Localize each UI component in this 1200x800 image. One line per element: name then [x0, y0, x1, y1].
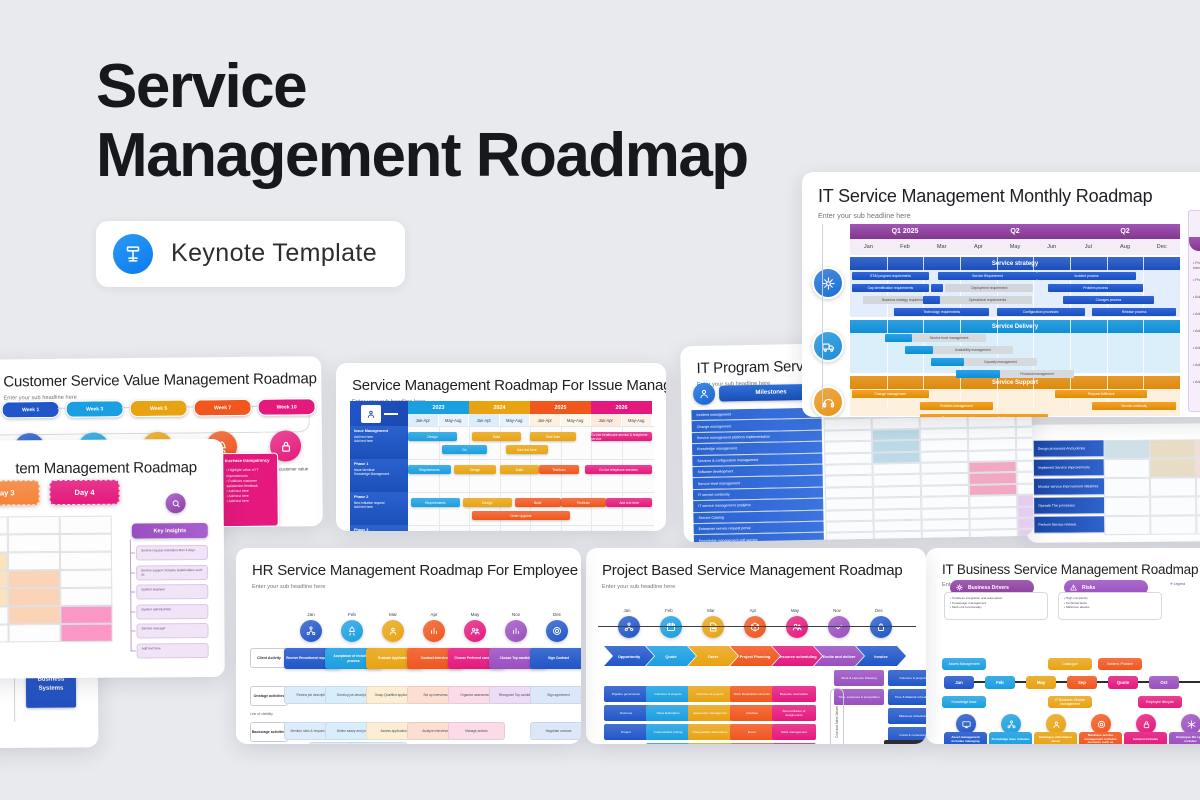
connector-spine [130, 540, 132, 652]
improvement-cell [1196, 439, 1200, 458]
bullet: • Add text here [222, 499, 274, 505]
it-program-cell [1016, 460, 1033, 472]
hr-lane-1: Onstage activities [250, 686, 288, 706]
key-panel-item-2: • Add text [1193, 295, 1200, 300]
month-header-8: Dec [1143, 239, 1181, 255]
b-col-title-0: Asset management includes managing [944, 732, 987, 744]
pb-item-3-2[interactable]: Event [730, 724, 774, 740]
lectern-icon [113, 234, 153, 274]
b-tag-bottom-0[interactable]: Knowledge base [942, 696, 986, 708]
b-col-icon-5 [1181, 714, 1200, 734]
it-program-cell [826, 521, 874, 533]
it-program-cell [921, 485, 969, 497]
gantt-bar-13[interactable]: Build [515, 498, 561, 507]
month-header-1: May-Aug [439, 414, 470, 426]
hr-backstage-4[interactable]: Manage actions [448, 722, 505, 740]
phase-3: Phase 3Service CatalogueSelf Service [350, 525, 408, 531]
monthly-key-panel: Key• Project - system - business transfo… [1188, 210, 1200, 412]
b-col-icon-4 [1136, 714, 1156, 734]
hr-month-icon-2 [382, 620, 404, 642]
pb-month-1: Feb [654, 608, 684, 613]
month-header-2: Jan-Apr [469, 414, 500, 426]
pb-item-2-3[interactable]: Multiple billing systems [688, 743, 732, 744]
it-program-cell [824, 430, 872, 442]
support-bar-3[interactable]: Service continuity [1092, 402, 1176, 410]
phase-sub: Add text here [354, 505, 404, 510]
b-col-icon-0 [956, 714, 976, 734]
phase-1: Phase 1Issue IdenticalKnowledge Manageme… [350, 459, 408, 492]
it-program-cell [970, 529, 1018, 541]
key-insights-label[interactable]: Key insights [132, 523, 208, 539]
month-header-3: May-Aug [500, 414, 531, 426]
month-header-4: Jan-Apr [530, 414, 561, 426]
delivery-bar-1[interactable]: Service level management [912, 334, 985, 342]
it-program-cell [969, 484, 1017, 496]
improvement-cell [1150, 458, 1196, 477]
it-program-cell [921, 473, 969, 485]
panel-title: Business Drivers [968, 585, 1009, 591]
pb-item-0-0[interactable]: Pipeline governance [604, 686, 648, 702]
phase-name: Phase 3 [354, 528, 404, 531]
it-program-cell [873, 486, 921, 498]
support-bar-1[interactable]: Request fulfilment [1055, 390, 1147, 398]
keynote-template-badge[interactable]: Keynote Template [96, 221, 405, 287]
b-month-3[interactable]: Sep [1067, 676, 1097, 689]
support-bar-5[interactable]: Release management [920, 414, 997, 417]
day-pill-2[interactable]: Day 4 [49, 480, 119, 505]
b-tag-top-1[interactable]: Catalogue [1048, 658, 1092, 670]
improvement-cell [1150, 477, 1196, 496]
hr-month-6: Dec [540, 612, 574, 617]
improvement-cell [1196, 477, 1200, 496]
pb-item-0-2[interactable]: Project [604, 724, 648, 740]
pb-month-5: Nov [822, 608, 852, 613]
slide-card-system-management[interactable]: tem Management Roadmap Day 3Day 4Key ins… [0, 439, 225, 679]
strategy-bar-3[interactable]: Technology requirements [894, 308, 989, 316]
key-panel-item-6: • Add text [1193, 363, 1200, 368]
gantt-bar-5[interactable]: Add text here [506, 445, 549, 454]
month-header-3: Apr [960, 239, 998, 255]
table-cell [60, 606, 112, 624]
it-program-cell [825, 475, 873, 487]
slide-subtitle: Enter your sub headline here [818, 213, 1200, 220]
hr-month-3: Apr [417, 612, 451, 617]
slide-title: tem Management Roadmap [15, 459, 207, 477]
phase-row-bg [408, 459, 654, 492]
it-program-cell [969, 472, 1017, 484]
it-program-cell [873, 497, 921, 509]
person-icon [693, 383, 715, 405]
year-header-2: 2025 [530, 401, 592, 414]
day-table [0, 516, 113, 646]
b-col-icon-2 [1046, 714, 1066, 734]
it-program-cell [968, 427, 1016, 439]
strategy-bar-6[interactable]: Deployment requirement [945, 284, 1033, 292]
month-header-2: Mar [923, 239, 961, 255]
issue-gantt: 2023202420252026Jan-AprMay-AugJan-AprMay… [350, 401, 654, 521]
pb-item-4-1[interactable]: Reconciliation of assignments [772, 705, 816, 721]
it-program-cell [921, 496, 969, 508]
cost-sales-label: Cost and Sales Values [830, 688, 844, 744]
it-program-cell [920, 428, 968, 440]
slide-title: Project Based Service Management Roadmap [602, 562, 910, 579]
pb-month-6: Dec [864, 608, 894, 613]
strategy-bar-11[interactable]: Changes process [1063, 296, 1155, 304]
table-cell [60, 534, 112, 552]
slide-title: Service Management Roadmap For Issue Man… [352, 377, 650, 394]
it-program-cell [920, 450, 968, 462]
pb-item-1-1[interactable]: Value Estimation [646, 705, 690, 721]
gantt-bar-1[interactable]: Build [472, 432, 521, 441]
it-program-cell [968, 415, 1016, 427]
gantt-bar-4[interactable]: Go [442, 445, 488, 454]
month-header-0: Jan-Apr [408, 414, 439, 426]
b-tag-bottom-1[interactable]: IT Business Service management [1048, 696, 1092, 708]
it-program-cell [825, 487, 873, 499]
gantt-bar-3[interactable]: Go live healthcare service & telephone s… [591, 432, 652, 441]
it-program-cell [969, 495, 1017, 507]
improvement-item-3[interactable]: Operate The processes [1034, 497, 1104, 515]
strategy-bar-5[interactable] [931, 284, 944, 292]
slide-card-monthly-roadmap[interactable]: IT Service Management Monthly Roadmap En… [802, 172, 1200, 417]
improvement-list: Design processes And policiesImplement S… [1025, 423, 1200, 425]
month-header-0: Jan [850, 239, 888, 255]
grid-line [1143, 257, 1144, 409]
key-insight-item-2: System engineer [136, 584, 208, 600]
delivery-bar-2[interactable] [905, 346, 933, 354]
pb-month-4: May [780, 608, 810, 613]
key-insight-item-3: System administrator [136, 603, 208, 619]
key-panel-title: Key [1189, 237, 1200, 251]
week-pill-3[interactable]: Week 7 [194, 399, 252, 417]
month-header-5: Jun [1033, 239, 1071, 255]
pb-item-2-1[interactable]: Agreement management [688, 705, 732, 721]
delivery-bar-5[interactable]: Capacity management [964, 358, 1037, 366]
delivery-bar-6[interactable] [956, 370, 1000, 378]
key-panel-item-7: • Add text [1193, 380, 1200, 385]
actual-box[interactable]: Actual [884, 740, 926, 744]
hr-month-1: Feb [335, 612, 369, 617]
b-tag-top-2[interactable]: Incident, Problem [1098, 658, 1142, 670]
month-header-5: May-Aug [561, 414, 592, 426]
strategy-bar-10[interactable]: Problem process [1048, 284, 1143, 292]
delivery-bar-0[interactable] [885, 334, 913, 342]
pb-item-4-0[interactable]: Bespoke reservation [772, 686, 816, 702]
table-cell [8, 552, 60, 570]
it-program-cell [872, 417, 920, 429]
week-pill-0[interactable]: Week 1 [2, 401, 60, 419]
pb-item-3-3[interactable]: Project Program [730, 743, 774, 744]
b-col-title-4: Incident includes [1124, 732, 1167, 744]
b-col-title-2: Catalogue information about [1034, 732, 1077, 744]
slide-card-hr-recruitment[interactable]: HR Service Management Roadmap For Employ… [236, 548, 581, 744]
improvement-cell [1104, 497, 1150, 516]
table-cell [60, 570, 112, 588]
gantt-bar-8[interactable]: Build [500, 465, 540, 474]
it-program-cell [1017, 483, 1034, 495]
key-insight-item-4: Service manager [136, 623, 208, 639]
pb-item-3-0[interactable]: Work Breakdown structure [730, 686, 774, 702]
slide-card-issue-management[interactable]: Service Management Roadmap For Issue Man… [336, 363, 666, 531]
table-cell [0, 534, 8, 552]
year-header-0: 2023 [408, 401, 470, 414]
it-program-cell [922, 530, 970, 542]
slide-title: HR Service Management Roadmap For Employ… [252, 562, 565, 579]
table-cell [0, 552, 8, 570]
support-bar-2[interactable]: Problem management [920, 402, 993, 410]
improvement-item-4[interactable]: Perform Service reviews [1034, 516, 1104, 534]
it-program-cell [824, 418, 872, 430]
it-program-cell [826, 532, 874, 542]
quarter-header-2: Q2 [1070, 224, 1181, 239]
month-header-4: May [997, 239, 1035, 255]
slide-title: Customer Service Value Management Roadma… [3, 370, 305, 390]
phase-2: Phase 2New Initiative requestAdd text he… [350, 492, 408, 525]
table-cell [60, 624, 112, 642]
gantt-bar-10[interactable]: Go live telephone services [585, 465, 652, 474]
it-program-cell [825, 498, 873, 510]
gantt-bar-15[interactable]: Add text here [606, 498, 652, 507]
pb-item-1-3[interactable]: Gap computation [646, 743, 690, 744]
b-month-2[interactable]: May [1026, 676, 1056, 689]
strategy-bar-4[interactable]: Service Requirement [938, 272, 1037, 280]
slide-card-project-based[interactable]: Project Based Service Management Roadmap… [586, 548, 926, 744]
grid-line [622, 426, 623, 531]
page-title: Service Management Roadmap [96, 52, 796, 191]
pb-item-2-0[interactable]: Outcome & projects [688, 686, 732, 702]
hr-month-2: Mar [376, 612, 410, 617]
gantt-bar-0[interactable]: Design [408, 432, 457, 441]
search-icon[interactable] [166, 493, 186, 513]
it-program-cell [1017, 494, 1034, 506]
gantt-bar-16[interactable]: Order upgrade [472, 511, 570, 520]
strategy-bar-8[interactable]: Operational requirements [944, 296, 1032, 304]
grid-line [439, 426, 440, 531]
it-program-cell [1018, 517, 1034, 529]
it-business-body: Business Drivers• Codeless integration a… [938, 580, 1200, 738]
key-panel-item-0: • Project - system - business transfor [1193, 261, 1200, 271]
b-month-5[interactable]: Oct [1149, 676, 1179, 689]
panel-title: Risks [1082, 585, 1095, 591]
table-cell [8, 570, 60, 588]
band-label-1: Service Delivery [850, 320, 1180, 333]
strategy-bar-13[interactable]: Release process [1092, 308, 1176, 316]
it-program-cell [920, 439, 968, 451]
improvement-item-0[interactable]: Design processes And policies [1034, 440, 1104, 458]
hr-month-4: May [458, 612, 492, 617]
it-program-cell [872, 429, 920, 441]
strategy-bar-9[interactable]: Incident process [1037, 272, 1136, 280]
improvement-cell [1104, 516, 1150, 535]
hr-month-icon-3 [423, 620, 445, 642]
pb-item-1-0[interactable]: Outcome & projects [646, 686, 690, 702]
gantt-bar-9[interactable]: Test/train [539, 465, 579, 474]
hr-backstage-6[interactable]: Negotiate contract [530, 722, 581, 740]
monthly-gantt: Q1 2025Q2Q2JanFebMarAprMayJunJulAugDecSe… [850, 224, 1180, 409]
pb-item-6-2[interactable]: Milestone schedules [888, 708, 926, 724]
hr-month-0: Jan [294, 612, 328, 617]
b-month-0[interactable]: Jan [944, 676, 974, 689]
improvement-item-1[interactable]: Implement Service improvements [1034, 459, 1104, 477]
pb-item-2-2[interactable]: Chargeability alternations [688, 724, 732, 740]
support-bar-0[interactable]: Change management [852, 390, 929, 398]
table-cell [0, 516, 8, 534]
week-pill-4[interactable]: Week 10 [258, 398, 316, 416]
gantt-bar-2[interactable]: Test/ train [530, 432, 576, 441]
gantt-bar-6[interactable]: Requirements [408, 465, 451, 474]
b-col-icon-1 [1001, 714, 1021, 734]
it-program-cell [970, 518, 1018, 530]
track-link [58, 408, 66, 409]
hr-month-icon-1 [341, 620, 363, 642]
pb-item-4-2[interactable]: Skills management [772, 724, 816, 740]
key-panel-item-3: • Add text [1193, 312, 1200, 317]
pb-item-6-0[interactable]: Outcome & projects [888, 670, 926, 686]
gantt-bar-14[interactable]: Test/train [561, 498, 607, 507]
day-pill-1[interactable]: Day 3 [0, 480, 40, 505]
it-program-cell [968, 461, 1016, 473]
week-pill-1[interactable]: Week 3 [66, 400, 124, 418]
b-tag-top-0[interactable]: Assets Management [942, 658, 986, 670]
pb-item-1-2[interactable]: Customizable pricing [646, 724, 690, 740]
table-cell [0, 624, 9, 642]
b-month-4[interactable]: Quote [1108, 676, 1138, 689]
pb-month-3: Apr [738, 608, 768, 613]
key-insight-item-1: Service support includes stakeholders su… [136, 564, 208, 580]
hr-blueprint: JanFebMarAprMayNovDecClient ActivityOnst… [248, 582, 571, 736]
delivery-bar-4[interactable] [931, 358, 964, 366]
project-stage-flow: JanOpportunityFebQuoteMarOrderAprProject… [598, 580, 916, 736]
table-cell [8, 516, 60, 534]
it-program-cell [1016, 426, 1034, 438]
improvement-cell [1196, 496, 1200, 515]
pb-item-5-0[interactable]: Work & expense following [834, 670, 884, 686]
it-program-cell [922, 519, 970, 531]
week-pill-2[interactable]: Week 5 [130, 400, 188, 418]
table-cell [0, 606, 8, 624]
it-program-cell [825, 509, 873, 521]
improvement-cell [1196, 458, 1200, 477]
phase-0: Issue ManagementAdd text hereAdd text he… [350, 426, 408, 459]
gantt-bar-12[interactable]: Design [463, 498, 512, 507]
key-insight-item-0: Service request resolution Max 4 days [136, 545, 208, 561]
it-program-cell [968, 438, 1016, 450]
slide-title: IT Service Management Monthly Roadmap [818, 186, 1200, 207]
pb-item-3-1[interactable]: Activities [730, 705, 774, 721]
it-program-cell [824, 464, 872, 476]
table-cell [8, 534, 60, 552]
grid-line [591, 426, 592, 531]
improvement-cell [1150, 439, 1196, 458]
slide-card-it-business-service[interactable]: IT Business Service Management Roadmap E… [926, 548, 1200, 744]
pb-stage-0[interactable]: Opportunity [604, 646, 654, 666]
gantt-bar-11[interactable]: Requirements [411, 498, 460, 507]
hr-client-activity-6[interactable]: Sign Contract [530, 648, 581, 669]
delivery-bar-7[interactable]: Financial management [1000, 370, 1073, 378]
improvement-grid [1025, 423, 1200, 425]
band-label-0: Service strategy [850, 257, 1180, 270]
b-month-1[interactable]: Feb [985, 676, 1015, 689]
pb-item-4-3[interactable]: Industrial Resource reservation [772, 743, 816, 744]
page-title-line2: Management Roadmap [96, 121, 796, 190]
phase-row-bg [408, 492, 654, 525]
line-of-visibility: Line of visibility [250, 712, 273, 716]
month-header-6: Jan-Apr [591, 414, 622, 426]
improvement-cell [1150, 496, 1196, 515]
improvement-item-2[interactable]: Monitor service improvement initiatives [1034, 478, 1104, 496]
month-header-6: Jul [1070, 239, 1108, 255]
it-program-cell [824, 441, 872, 453]
delivery-bar-3[interactable]: Availability management [933, 346, 1014, 354]
bullet: • Highlight value of IT improvements [221, 468, 273, 479]
hero-section: Service Management Roadmap Keynote Templ… [96, 52, 796, 287]
improvement-cell [1150, 515, 1196, 534]
slide-card-service-improvement[interactable]: Design processes And policiesImplement S… [1025, 423, 1200, 543]
b-col-title-3: Business service management includes ele… [1079, 732, 1122, 744]
table-cell [8, 624, 60, 642]
hr-supporting-1[interactable]: Describe salary and perks [350, 742, 407, 744]
b-col-title-1: Knowledge base includes [989, 732, 1032, 744]
hr-month-icon-4 [464, 620, 486, 642]
strategy-bar-12[interactable]: Configuration processes [997, 308, 1085, 316]
year-header-3: 2026 [591, 401, 653, 414]
key-panel-item-1: • Project - SCM sol [1193, 278, 1200, 283]
track-link [186, 406, 194, 407]
hr-month-5: Nov [499, 612, 533, 617]
b-tag-bottom-2[interactable]: Employee lifecycle [1138, 696, 1182, 708]
it-program-cell [968, 450, 1016, 462]
gantt-bar-7[interactable]: Design [454, 465, 497, 474]
table-cell [0, 588, 8, 606]
value-card[interactable]: Increase transparency• Highlight value o… [216, 453, 279, 528]
pb-month-2: Mar [696, 608, 726, 613]
hr-onstage-6[interactable]: Sign agreement [530, 686, 581, 704]
key-panel-item-4: • Add text [1193, 329, 1200, 334]
it-program-cell [872, 451, 920, 463]
quarter-header-0: Q1 2025 [850, 224, 961, 239]
pb-item-6-1[interactable]: Time & Material schedules [888, 689, 926, 705]
it-program-cell [921, 507, 969, 519]
pb-item-0-1[interactable]: Outcome [604, 705, 648, 721]
phase-sub: Knowledge Management [354, 472, 404, 477]
strategy-bar-0[interactable]: ITSM program requirements [852, 272, 929, 280]
it-program-cell [1017, 471, 1034, 483]
hr-lane-0: Client Activity [250, 648, 288, 668]
panel-item: • Multi unit functionality [950, 605, 1042, 610]
it-program-cell [874, 531, 922, 542]
it-program-item-11[interactable]: Knowledge management self service [694, 533, 824, 542]
band-icon-2 [812, 386, 844, 417]
strategy-bar-7[interactable] [923, 296, 940, 304]
strategy-bar-1[interactable]: Gap identification requirements [852, 284, 929, 292]
page-title-line1: Service [96, 52, 796, 121]
hr-month-icon-0 [300, 620, 322, 642]
grid-line [469, 426, 470, 531]
it-program-cell [920, 462, 968, 474]
it-program-cell [824, 452, 872, 464]
table-cell [8, 606, 60, 624]
phase-row-bg [408, 426, 654, 459]
it-program-cell [872, 463, 920, 475]
hr-month-icon-6 [546, 620, 568, 642]
key-panel-item-5: • Add text [1193, 346, 1200, 351]
it-program-cell [1016, 449, 1034, 461]
it-program-cell [874, 520, 922, 532]
hr-lane-2: Backstage activities [250, 722, 288, 742]
hr-month-icon-5 [505, 620, 527, 642]
spine [822, 224, 823, 409]
it-program-cell [969, 507, 1017, 519]
